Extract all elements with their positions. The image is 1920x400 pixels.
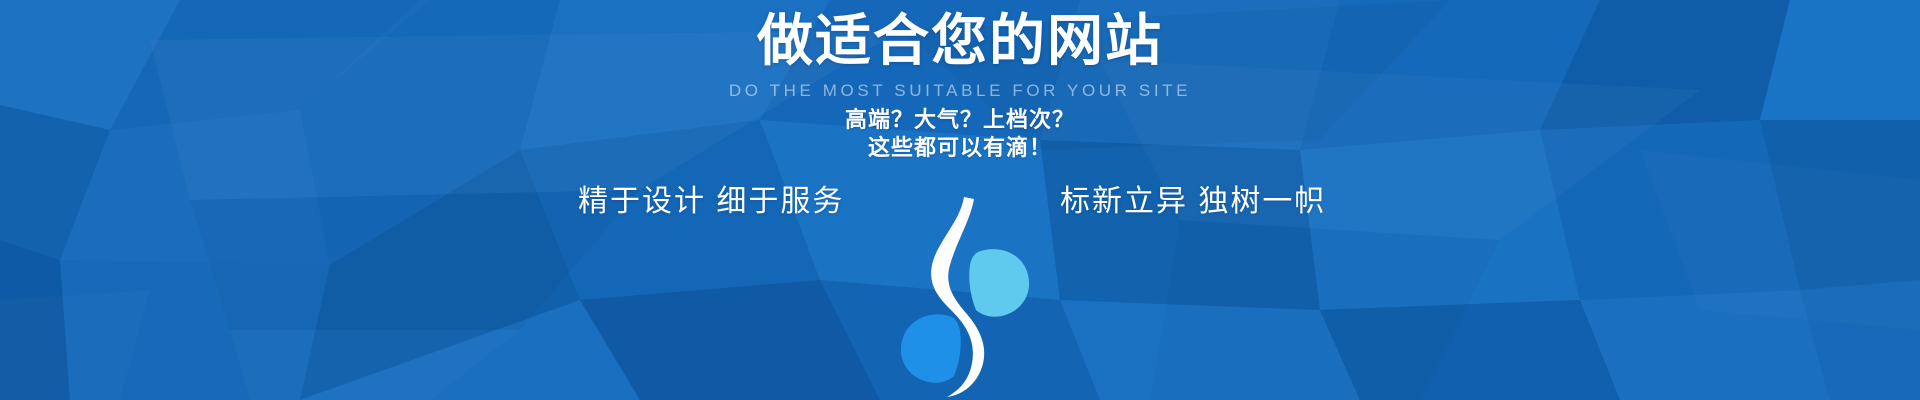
- tagline-right: 标新立异 独树一帜: [1060, 178, 1326, 226]
- slogan-line-2: 这些都可以有滴！: [0, 134, 1920, 162]
- slogan-block: 高端？大气？上档次？ 这些都可以有滴！: [0, 106, 1920, 162]
- tagline-left: 精于设计 细于服务: [578, 178, 844, 226]
- slogan-line-1: 高端？大气？上档次？: [0, 106, 1920, 134]
- leaf-vine-logo-icon: [900, 195, 1030, 400]
- promo-banner: 做适合您的网站 DO THE MOST SUITABLE FOR YOUR SI…: [0, 0, 1920, 400]
- page-subtitle-english: DO THE MOST SUITABLE FOR YOUR SITE: [0, 81, 1920, 101]
- page-title: 做适合您的网站: [0, 10, 1920, 72]
